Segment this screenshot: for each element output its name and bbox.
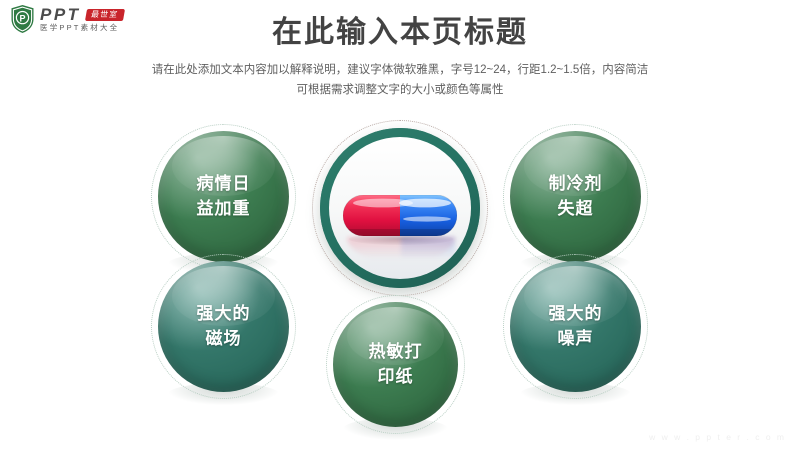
site-watermark: w w w . p p t e r . c o m: [649, 432, 786, 442]
node-top-left[interactable]: 病情日 益加重: [158, 131, 289, 262]
center-image-circle: [320, 128, 480, 288]
node-label: 强大的 噪声: [549, 302, 603, 350]
node-label-line1: 强大的: [197, 304, 251, 323]
node-label: 病情日 益加重: [197, 172, 251, 220]
node-bottom-center[interactable]: 热敏打 印纸: [333, 302, 458, 427]
node-label: 强大的 磁场: [197, 302, 251, 350]
node-label-line1: 病情日: [197, 174, 251, 193]
node-label-line1: 强大的: [549, 304, 603, 323]
node-label-line2: 磁场: [206, 329, 242, 348]
node-label-line2: 印纸: [378, 367, 414, 386]
node-label: 制冷剂 失超: [549, 172, 603, 220]
node-bottom-left[interactable]: 强大的 磁场: [158, 261, 289, 392]
node-label-line2: 益加重: [197, 199, 251, 218]
node-top-right[interactable]: 制冷剂 失超: [510, 131, 641, 262]
capsule-pill-image: [329, 137, 471, 279]
node-label-line1: 热敏打: [369, 342, 423, 361]
node-label-line2: 失超: [558, 199, 594, 218]
pill-reflection-blue: [401, 237, 455, 263]
node-bottom-right[interactable]: 强大的 噪声: [510, 261, 641, 392]
node-label-line1: 制冷剂: [549, 174, 603, 193]
node-label: 热敏打 印纸: [369, 340, 423, 388]
node-label-line2: 噪声: [558, 329, 594, 348]
pill-icon: [343, 195, 457, 236]
circles-diagram: 病情日 益加重 制冷剂 失超 强大的 磁场 强大的 噪声 热敏打 印纸: [0, 0, 800, 450]
